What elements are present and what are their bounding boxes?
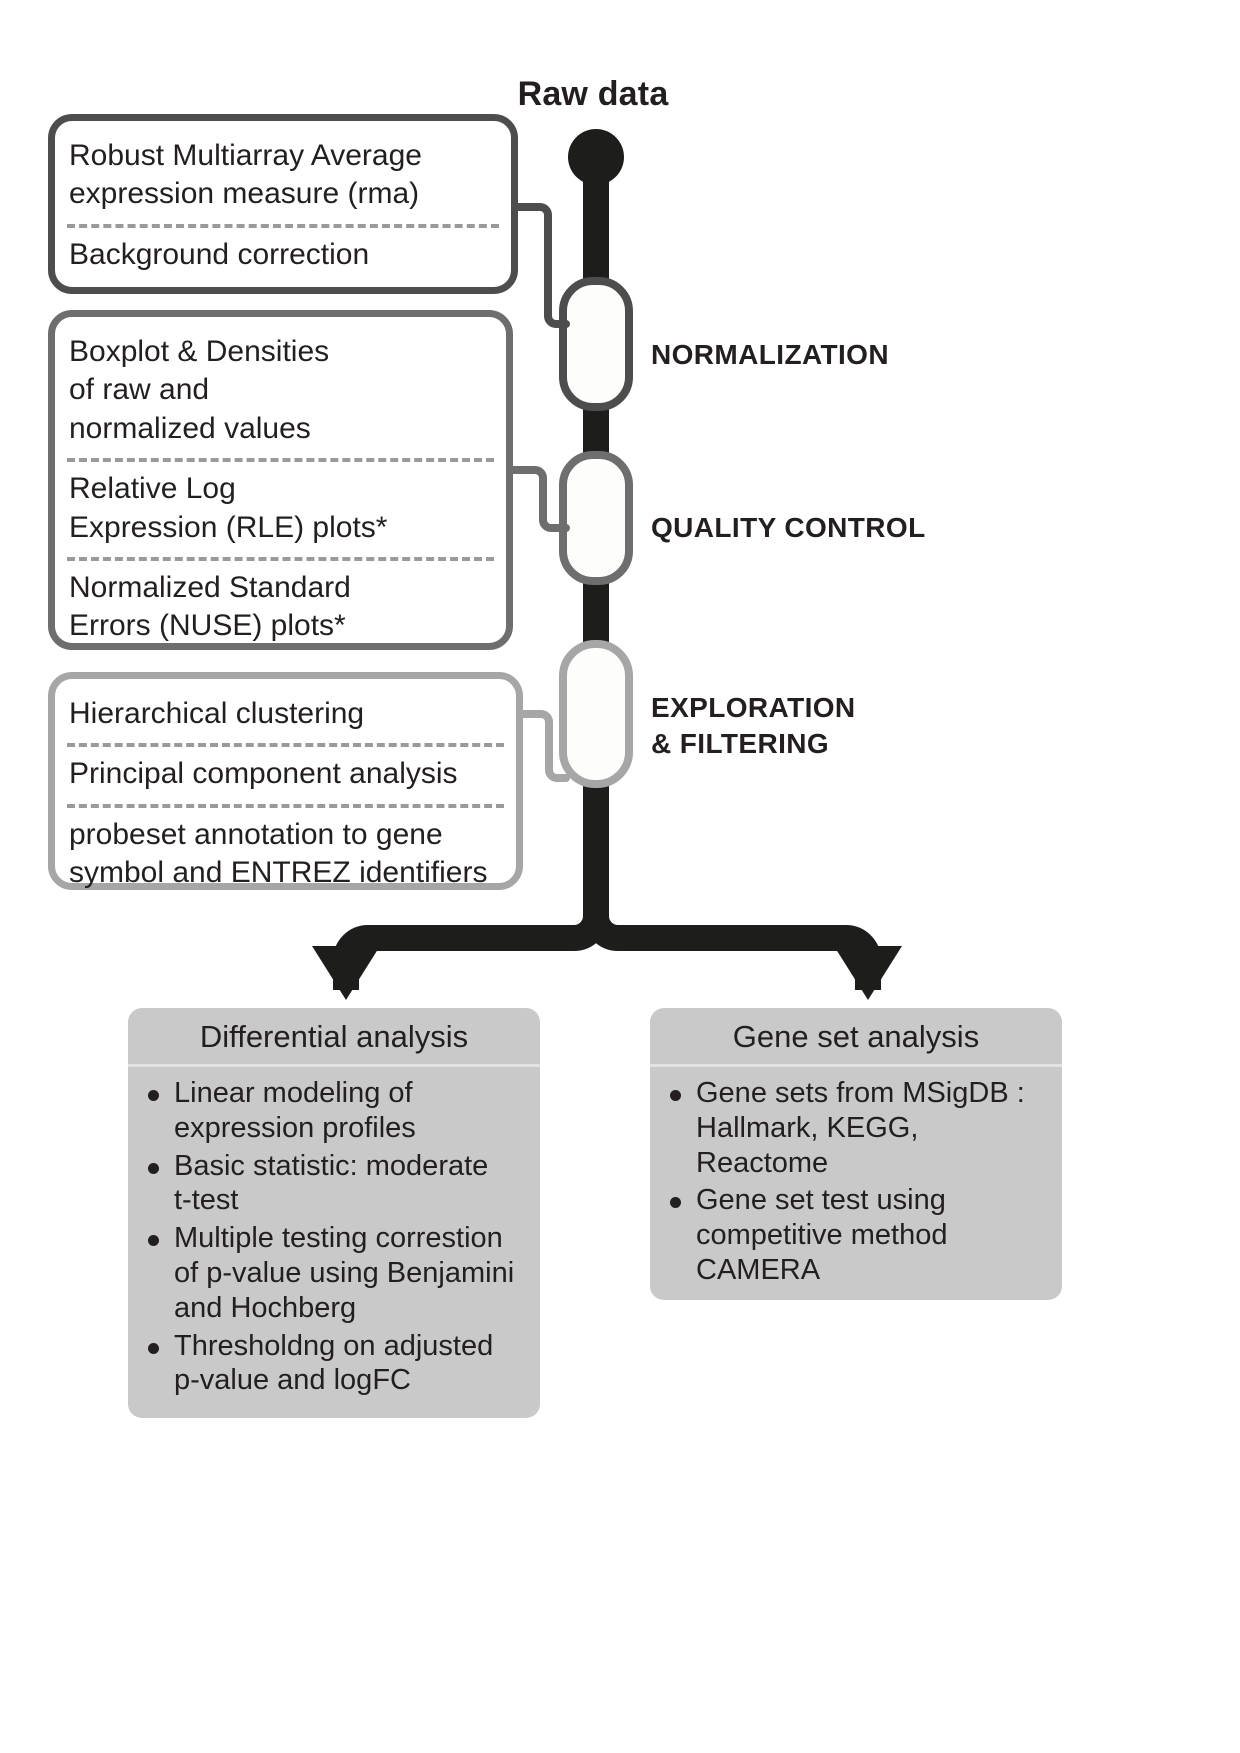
stage-item: Hierarchical clustering	[55, 689, 516, 741]
stage-label-exploration-filtering: EXPLORATION & FILTERING	[651, 690, 856, 762]
connector-normalization	[518, 207, 566, 324]
list-item: Gene set test using competitive method C…	[664, 1183, 1046, 1287]
stage-item: Background correction	[55, 230, 511, 282]
connector-quality-control	[513, 470, 566, 528]
list-item: Multiple testing correstion of p-value u…	[142, 1221, 524, 1325]
raw-data-node	[568, 129, 624, 185]
stage-box-quality-control: Boxplot & Densities of raw and normalize…	[48, 310, 513, 650]
arrowhead-left	[312, 946, 380, 1000]
outcome-bullet-list: Linear modeling of expression profiles B…	[128, 1067, 540, 1415]
outcome-card-gene-set-analysis: Gene set analysis Gene sets from MSigDB …	[650, 1008, 1062, 1300]
outcome-title: Differential analysis	[128, 1008, 540, 1067]
stage-label-quality-control: QUALITY CONTROL	[651, 510, 926, 546]
list-item: Gene sets from MSigDB : Hallmark, KEGG, …	[664, 1076, 1046, 1180]
outcome-card-differential-analysis: Differential analysis Linear modeling of…	[128, 1008, 540, 1418]
item-divider	[67, 557, 494, 561]
stage-capsule-quality-control	[563, 455, 629, 581]
page-title: Raw data	[468, 75, 718, 114]
list-item: Thresholdng on adjusted p-value and logF…	[142, 1329, 524, 1399]
stage-item: probeset annotation to gene symbol and E…	[55, 810, 516, 901]
stage-item: Robust Multiarray Average expression mea…	[55, 131, 511, 222]
outcome-title: Gene set analysis	[650, 1008, 1062, 1067]
list-item: Basic statistic: moderate t-test	[142, 1149, 524, 1219]
stage-item: Normalized Standard Errors (NUSE) plots*	[55, 563, 506, 654]
list-item: Linear modeling of expression profiles	[142, 1076, 524, 1146]
stage-capsule-normalization	[563, 281, 629, 407]
stage-label-normalization: NORMALIZATION	[651, 337, 889, 373]
stage-capsule-exploration-filtering	[563, 644, 629, 784]
item-divider	[67, 804, 504, 808]
item-divider	[67, 743, 504, 747]
item-divider	[67, 224, 499, 228]
stage-item: Relative Log Expression (RLE) plots*	[55, 464, 506, 555]
stage-item: Boxplot & Densities of raw and normalize…	[55, 327, 506, 456]
item-divider	[67, 458, 494, 462]
arrowhead-right	[834, 946, 902, 1000]
outcome-bullet-list: Gene sets from MSigDB : Hallmark, KEGG, …	[650, 1067, 1062, 1300]
stage-box-exploration-filtering: Hierarchical clustering Principal compon…	[48, 672, 523, 890]
stage-box-normalization: Robust Multiarray Average expression mea…	[48, 114, 518, 294]
stage-item: Principal component analysis	[55, 749, 516, 801]
